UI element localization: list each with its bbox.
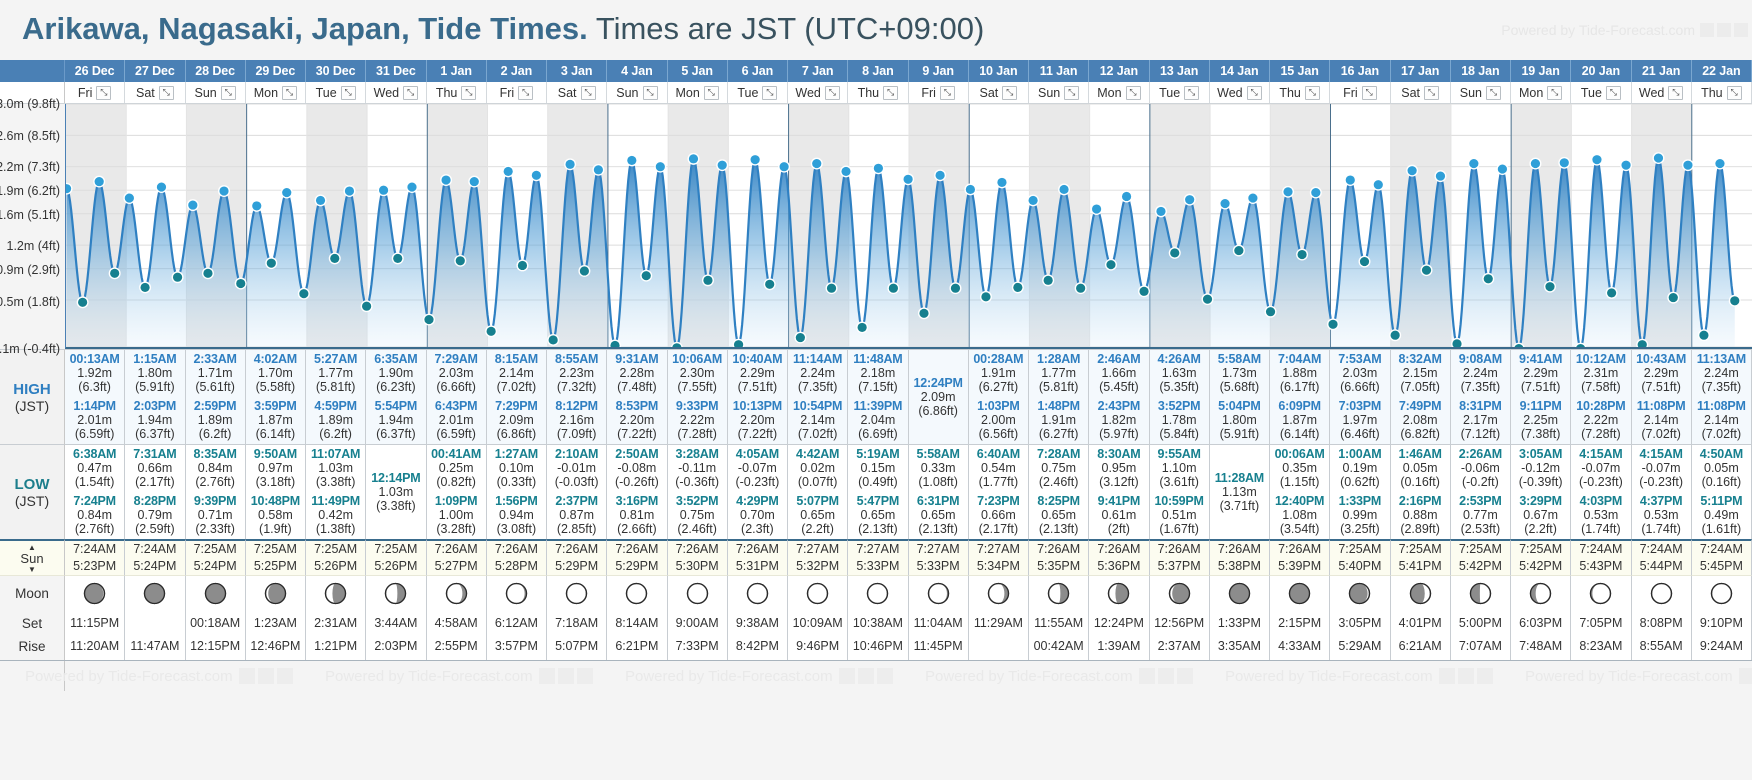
low-tide-point[interactable] bbox=[1545, 282, 1554, 291]
low-tide-point[interactable] bbox=[1484, 274, 1493, 283]
event-time: 5:04PM bbox=[1218, 399, 1261, 413]
low-tide-point[interactable] bbox=[1328, 320, 1337, 329]
date-cell-9[interactable]: 4 Jan bbox=[607, 60, 667, 82]
low-tide-point[interactable] bbox=[1607, 288, 1616, 297]
expand-icon[interactable]: ⤡ bbox=[883, 86, 898, 100]
expand-icon[interactable]: ⤡ bbox=[403, 86, 418, 100]
setrise-cell-0: 11:15PM11:20AM bbox=[65, 610, 125, 660]
setrise-cell-25: 7:05PM8:23AM bbox=[1571, 610, 1631, 660]
low-tide-event: 3:52PM0.75m(2.46ft) bbox=[668, 492, 727, 539]
cellbox: 10:40AM2.29m(7.51ft)10:13PM2.20m(7.22ft) bbox=[728, 350, 787, 444]
expand-icon[interactable]: ⤡ bbox=[1184, 86, 1199, 100]
high-tide-point[interactable] bbox=[997, 178, 1006, 187]
sun-cell-12: 7:27AM5:32PM bbox=[788, 539, 848, 575]
event-time: 5:54PM bbox=[375, 399, 418, 413]
low-tide-point[interactable] bbox=[889, 284, 898, 293]
high-tide-event: 4:02AM1.70m(5.58ft) bbox=[246, 350, 305, 397]
event-meters: 1.97m bbox=[1343, 413, 1378, 427]
low-tide-point[interactable] bbox=[1170, 248, 1179, 257]
high-tide-point[interactable] bbox=[1311, 188, 1320, 197]
event-time: 8:31PM bbox=[1459, 399, 1502, 413]
expand-icon[interactable]: ⤡ bbox=[341, 86, 356, 100]
watermark-strip: Powered by Tide-Forecast.comPowered by T… bbox=[65, 661, 1752, 691]
low-tide-event: 4:50AM0.05m(0.16ft) bbox=[1692, 445, 1751, 492]
high-tide-point[interactable] bbox=[219, 186, 228, 195]
date-cell-15[interactable]: 10 Jan bbox=[969, 60, 1029, 82]
low-tide-point[interactable] bbox=[236, 279, 245, 288]
low-tide-point[interactable] bbox=[1297, 250, 1306, 259]
low-tide-point[interactable] bbox=[858, 323, 867, 332]
low-tide-point[interactable] bbox=[487, 327, 496, 336]
event-time: 4:29PM bbox=[736, 494, 779, 508]
expand-icon[interactable]: ⤡ bbox=[282, 86, 297, 100]
low-tide-point[interactable] bbox=[765, 280, 774, 289]
moonrise-time: 7:07AM bbox=[1459, 635, 1502, 658]
high-tide-point[interactable] bbox=[1715, 159, 1724, 168]
high-tide-cell-8: 8:55AM2.23m(7.32ft)8:12PM2.16m(7.09ft) bbox=[547, 349, 607, 444]
dow-cell-18: Tue⤡ bbox=[1150, 82, 1210, 103]
event-feet: (6.2ft) bbox=[319, 427, 352, 441]
moon-cell-16 bbox=[1029, 575, 1089, 610]
event-meters: 2.29m bbox=[740, 366, 775, 380]
high-tide-cell-13: 11:48AM2.18m(7.15ft)11:39PM2.04m(6.69ft) bbox=[848, 349, 908, 444]
event-meters: 2.28m bbox=[620, 366, 655, 380]
dow-cell-16: Sun⤡ bbox=[1029, 82, 1089, 103]
low-tide-point[interactable] bbox=[1669, 293, 1678, 302]
date-cell-11[interactable]: 6 Jan bbox=[728, 60, 788, 82]
dow-label: Wed bbox=[795, 86, 820, 100]
event-meters: 0.42m bbox=[318, 508, 353, 522]
expand-icon[interactable]: ⤡ bbox=[1362, 86, 1377, 100]
high-tide-point[interactable] bbox=[125, 194, 134, 203]
low-tide-cell-17: 8:30AM0.95m(3.12ft)9:41PM0.61m(2ft) bbox=[1089, 444, 1149, 539]
cellbox: 3:05AM-0.12m(-0.39ft)3:29PM0.67m(2.2ft) bbox=[1511, 445, 1570, 539]
low-tide-point[interactable] bbox=[110, 269, 119, 278]
footer-watermark-3: Powered by Tide-Forecast.com bbox=[925, 668, 1193, 685]
low-tide-point[interactable] bbox=[299, 289, 308, 298]
event-meters: 0.79m bbox=[138, 508, 173, 522]
event-feet: (2.89ft) bbox=[1400, 522, 1440, 536]
high-tide-point[interactable] bbox=[407, 183, 416, 192]
high-tide-point[interactable] bbox=[1156, 207, 1165, 216]
low-tide-point[interactable] bbox=[267, 259, 276, 268]
expand-icon[interactable]: ⤡ bbox=[581, 86, 596, 100]
sun-cell-3: 7:25AM5:25PM bbox=[246, 539, 306, 575]
event-feet: (5.58ft) bbox=[256, 380, 296, 394]
date-cell-19[interactable]: 14 Jan bbox=[1210, 60, 1270, 82]
date-cell-5[interactable]: 31 Dec bbox=[366, 60, 426, 82]
location-title: Arikawa, Nagasaki, Japan, Tide Times. bbox=[22, 11, 588, 46]
event-meters: 0.99m bbox=[1343, 508, 1378, 522]
date-cell-1[interactable]: 27 Dec bbox=[125, 60, 185, 82]
event-feet: (7.32ft) bbox=[557, 380, 597, 394]
moonset-time: 6:03PM bbox=[1519, 612, 1562, 635]
high-tide-point[interactable] bbox=[157, 183, 166, 192]
low-tide-point[interactable] bbox=[1076, 284, 1085, 293]
high-tide-point[interactable] bbox=[1621, 161, 1630, 170]
event-time: 9:55AM bbox=[1157, 447, 1200, 461]
low-tide-point[interactable] bbox=[1699, 331, 1708, 340]
sunrise-time: 7:25AM bbox=[314, 541, 357, 558]
dow-cell-2: Sun⤡ bbox=[186, 82, 246, 103]
sunrise-time: 7:26AM bbox=[1097, 541, 1140, 558]
expand-icon[interactable]: ⤡ bbox=[825, 86, 840, 100]
expand-icon[interactable]: ⤡ bbox=[704, 86, 719, 100]
low-tide-event: 9:39PM0.71m(2.33ft) bbox=[186, 492, 245, 539]
expand-icon[interactable]: ⤡ bbox=[221, 86, 236, 100]
date-cell-27[interactable]: 22 Jan bbox=[1692, 60, 1752, 82]
low-tide-event: 8:28PM0.79m(2.59ft) bbox=[125, 492, 184, 539]
low-tide-point[interactable] bbox=[173, 273, 182, 282]
low-tide-point[interactable] bbox=[1360, 257, 1369, 266]
moonrise-time: 2:55PM bbox=[435, 635, 478, 658]
tide-grid: 26 Dec27 Dec28 Dec29 Dec30 Dec31 Dec1 Ja… bbox=[0, 60, 1752, 660]
high-tide-point[interactable] bbox=[841, 167, 850, 176]
event-time: 7:29PM bbox=[495, 399, 538, 413]
expand-icon[interactable]: ⤡ bbox=[461, 86, 476, 100]
event-feet: (0.82ft) bbox=[436, 475, 476, 489]
setrise-cell-22: 4:01PM6:21AM bbox=[1391, 610, 1451, 660]
expand-icon[interactable]: ⤡ bbox=[1606, 86, 1621, 100]
event-feet: (1.77ft) bbox=[979, 475, 1019, 489]
expand-icon[interactable]: ⤡ bbox=[762, 86, 777, 100]
event-time: 9:08AM bbox=[1459, 352, 1502, 366]
high-tide-point[interactable] bbox=[812, 159, 821, 168]
moon-phase-icon bbox=[324, 582, 347, 605]
high-tide-point[interactable] bbox=[966, 185, 975, 194]
high-tide-point[interactable] bbox=[1498, 165, 1507, 174]
high-tide-point[interactable] bbox=[1531, 159, 1540, 168]
high-tide-point[interactable] bbox=[441, 175, 450, 184]
event-time: 6:40AM bbox=[977, 447, 1020, 461]
low-tide-point[interactable] bbox=[1139, 287, 1148, 296]
high-tide-point[interactable] bbox=[1683, 161, 1692, 170]
high-tide-point[interactable] bbox=[1059, 185, 1068, 194]
event-time: 3:52PM bbox=[676, 494, 719, 508]
high-tide-point[interactable] bbox=[345, 186, 354, 195]
sunset-arrow-icon: ▼ bbox=[28, 566, 36, 573]
event-meters: 1.77m bbox=[318, 366, 353, 380]
event-time: 3:52PM bbox=[1158, 399, 1201, 413]
moon-phase-icon bbox=[204, 582, 227, 605]
event-time: 7:23PM bbox=[977, 494, 1020, 508]
cellbox: 8:30AM0.95m(3.12ft)9:41PM0.61m(2ft) bbox=[1089, 445, 1148, 539]
sunrise-time: 7:24AM bbox=[73, 541, 116, 558]
high-tide-point[interactable] bbox=[1248, 194, 1257, 203]
high-tide-point[interactable] bbox=[470, 177, 479, 186]
event-feet: (7.51ft) bbox=[1521, 380, 1561, 394]
sunset-time: 5:36PM bbox=[1097, 558, 1140, 575]
sunrise-arrow-icon: ▲ bbox=[28, 544, 36, 551]
moonset-time: 8:14AM bbox=[615, 612, 658, 635]
dow-columns: Fri⤡Sat⤡Sun⤡Mon⤡Tue⤡Wed⤡Thu⤡Fri⤡Sat⤡Sun⤡… bbox=[65, 82, 1752, 103]
cellbox: 12:14PM1.03m(3.38ft) bbox=[366, 445, 425, 539]
moonrise-time: 6:21PM bbox=[615, 635, 658, 658]
event-meters: 1.88m bbox=[1282, 366, 1317, 380]
high-tide-point[interactable] bbox=[95, 177, 104, 186]
event-feet: (6.66ft) bbox=[1340, 380, 1380, 394]
high-tide-event: 1:03PM2.00m(6.56ft) bbox=[969, 397, 1028, 444]
high-tide-point[interactable] bbox=[282, 188, 291, 197]
low-tide-point[interactable] bbox=[580, 266, 589, 275]
cellbox: 4:26AM1.63m(5.35ft)3:52PM1.78m(5.84ft) bbox=[1150, 350, 1209, 444]
low-tide-point[interactable] bbox=[703, 276, 712, 285]
expand-icon[interactable]: ⤡ bbox=[518, 86, 533, 100]
moon-cell-1 bbox=[125, 575, 185, 610]
high-tide-point[interactable] bbox=[504, 167, 513, 176]
low-tide-point[interactable] bbox=[518, 261, 527, 270]
date-cell-24[interactable]: 19 Jan bbox=[1511, 60, 1571, 82]
event-meters: 0.02m bbox=[800, 461, 835, 475]
low-tide-point[interactable] bbox=[203, 269, 212, 278]
moon-cell-9 bbox=[607, 575, 667, 610]
dow-label: Fri bbox=[500, 86, 515, 100]
dow-label: Wed bbox=[374, 86, 399, 100]
high-tide-point[interactable] bbox=[1185, 195, 1194, 204]
high-tide-point[interactable] bbox=[1220, 199, 1229, 208]
moonrise-time: 10:46PM bbox=[853, 635, 903, 658]
high-tide-event: 00:28AM1.91m(6.27ft) bbox=[969, 350, 1028, 397]
high-tide-cell-22: 8:32AM2.15m(7.05ft)7:49PM2.08m(6.82ft) bbox=[1391, 349, 1451, 444]
event-feet: (6.23ft) bbox=[376, 380, 416, 394]
low-tide-point[interactable] bbox=[827, 284, 836, 293]
moonset-time: 11:15PM bbox=[70, 612, 119, 635]
badge-icon bbox=[1158, 668, 1174, 684]
low-tide-event: 4:37PM0.53m(1.74ft) bbox=[1632, 492, 1691, 539]
moon-setrise-row: Set Rise 11:15PM11:20AM11:47AM00:18AM12:… bbox=[0, 610, 1752, 660]
high-tide-event: 3:59PM1.87m(6.14ft) bbox=[246, 397, 305, 444]
low-tide-point[interactable] bbox=[140, 283, 149, 292]
low-tide-event: 4:29PM0.70m(2.3ft) bbox=[728, 492, 787, 539]
date-cell-16[interactable]: 11 Jan bbox=[1029, 60, 1089, 82]
low-tide-event: 5:07PM0.65m(2.2ft) bbox=[788, 492, 847, 539]
low-tide-point[interactable] bbox=[1391, 331, 1400, 340]
date-cell-21[interactable]: 16 Jan bbox=[1330, 60, 1390, 82]
event-feet: (6.3ft) bbox=[78, 380, 111, 394]
event-meters: 0.75m bbox=[680, 508, 715, 522]
high-tide-point[interactable] bbox=[188, 201, 197, 210]
date-cell-17[interactable]: 12 Jan bbox=[1089, 60, 1149, 82]
low-tide-point[interactable] bbox=[1730, 296, 1739, 305]
expand-icon[interactable]: ⤡ bbox=[1424, 86, 1439, 100]
low-tide-point[interactable] bbox=[1044, 276, 1053, 285]
event-feet: (6.86ft) bbox=[497, 427, 537, 441]
event-feet: (2.76ft) bbox=[75, 522, 115, 536]
expand-icon[interactable]: ⤡ bbox=[1064, 86, 1079, 100]
low-tide-point[interactable] bbox=[1266, 307, 1275, 316]
expand-icon[interactable]: ⤡ bbox=[1002, 86, 1017, 100]
high-tide-point[interactable] bbox=[252, 201, 261, 210]
low-tide-point[interactable] bbox=[951, 284, 960, 293]
event-time: 00:41AM bbox=[431, 447, 481, 461]
low-tide-point[interactable] bbox=[981, 292, 990, 301]
event-feet: (7.38ft) bbox=[1521, 427, 1561, 441]
event-feet: (5.81ft) bbox=[316, 380, 356, 394]
low-tide-point[interactable] bbox=[393, 254, 402, 263]
date-cell-8[interactable]: 3 Jan bbox=[547, 60, 607, 82]
moon-cell-11 bbox=[728, 575, 788, 610]
expand-icon[interactable]: ⤡ bbox=[940, 86, 955, 100]
high-tide-point[interactable] bbox=[1283, 187, 1292, 196]
event-feet: (-0.23ft) bbox=[1579, 475, 1623, 489]
moonset-time: 12:24PM bbox=[1094, 612, 1144, 635]
low-tide-point[interactable] bbox=[1013, 283, 1022, 292]
event-feet: (-0.23ft) bbox=[735, 475, 779, 489]
event-meters: 0.35m bbox=[1282, 461, 1317, 475]
high-tide-point[interactable] bbox=[1122, 192, 1131, 201]
dow-label: Tue bbox=[1159, 86, 1180, 100]
low-tide-event: 10:59PM0.51m(1.67ft) bbox=[1150, 492, 1209, 539]
sunset-time: 5:32PM bbox=[796, 558, 839, 575]
event-time: 7:31AM bbox=[133, 447, 176, 461]
date-cell-10[interactable]: 5 Jan bbox=[668, 60, 728, 82]
low-tide-point[interactable] bbox=[1106, 260, 1115, 269]
low-tide-point[interactable] bbox=[362, 302, 371, 311]
event-time: 5:11PM bbox=[1700, 494, 1742, 508]
moonrise-time: 3:57PM bbox=[495, 635, 538, 658]
date-cell-14[interactable]: 9 Jan bbox=[909, 60, 969, 82]
high-tide-point[interactable] bbox=[565, 160, 574, 169]
cellbox: 12:24PM2.09m(6.86ft) bbox=[909, 350, 968, 444]
high-tide-event: 6:35AM1.90m(6.23ft) bbox=[366, 350, 425, 397]
sun-cell-1: 7:24AM5:24PM bbox=[125, 539, 185, 575]
high-tide-point[interactable] bbox=[1408, 166, 1417, 175]
cellbox: 2:50AM-0.08m(-0.26ft)3:16PM0.81m(2.66ft) bbox=[607, 445, 666, 539]
sunset-time: 5:33PM bbox=[856, 558, 899, 575]
high-tide-point[interactable] bbox=[1029, 196, 1038, 205]
high-tide-point[interactable] bbox=[594, 165, 603, 174]
high-tide-point[interactable] bbox=[532, 171, 541, 180]
high-tide-point[interactable] bbox=[1436, 172, 1445, 181]
expand-icon[interactable]: ⤡ bbox=[1247, 86, 1262, 100]
high-tide-point[interactable] bbox=[1346, 175, 1355, 184]
sun-label-text: Sun bbox=[20, 551, 43, 566]
moon-cell-10 bbox=[668, 575, 728, 610]
event-meters: 2.30m bbox=[680, 366, 715, 380]
expand-icon[interactable]: ⤡ bbox=[643, 86, 658, 100]
high-tide-point[interactable] bbox=[1560, 158, 1569, 167]
date-cell-2[interactable]: 28 Dec bbox=[186, 60, 246, 82]
low-tide-point[interactable] bbox=[330, 254, 339, 263]
date-cell-20[interactable]: 15 Jan bbox=[1270, 60, 1330, 82]
moon-cell-6 bbox=[427, 575, 487, 610]
high-tide-point[interactable] bbox=[718, 161, 727, 170]
high-tide-point[interactable] bbox=[1374, 180, 1383, 189]
expand-icon[interactable]: ⤡ bbox=[1547, 86, 1562, 100]
expand-icon[interactable]: ⤡ bbox=[96, 86, 111, 100]
low-tide-cell-0: 6:38AM0.47m(1.54ft)7:24PM0.84m(2.76ft) bbox=[65, 444, 125, 539]
high-tide-point[interactable] bbox=[1469, 159, 1478, 168]
date-cell-18[interactable]: 13 Jan bbox=[1150, 60, 1210, 82]
event-feet: (2.76ft) bbox=[195, 475, 235, 489]
low-tide-event: 2:10AM-0.01m(-0.03ft) bbox=[547, 445, 606, 492]
sunrise-time: 7:26AM bbox=[1158, 541, 1201, 558]
date-cell-22[interactable]: 17 Jan bbox=[1391, 60, 1451, 82]
high-tide-event: 10:06AM2.30m(7.55ft) bbox=[668, 350, 727, 397]
expand-icon[interactable]: ⤡ bbox=[1727, 86, 1742, 100]
expand-icon[interactable]: ⤡ bbox=[1126, 86, 1141, 100]
low-tide-cell-1: 7:31AM0.66m(2.17ft)8:28PM0.79m(2.59ft) bbox=[125, 444, 185, 539]
date-cell-3[interactable]: 29 Dec bbox=[246, 60, 306, 82]
cellbox: 11:07AM1.03m(3.38ft)11:49PM0.42m(1.38ft) bbox=[306, 445, 365, 539]
date-cell-25[interactable]: 20 Jan bbox=[1571, 60, 1631, 82]
low-tide-point[interactable] bbox=[1234, 246, 1243, 255]
high-tide-point[interactable] bbox=[874, 164, 883, 173]
sunset-time: 5:43PM bbox=[1579, 558, 1622, 575]
moonrise-time: 7:48AM bbox=[1519, 635, 1562, 658]
moon-cell-13 bbox=[848, 575, 908, 610]
moon-cell-8 bbox=[547, 575, 607, 610]
high-tide-point[interactable] bbox=[656, 162, 665, 171]
setrise-cell-7: 6:12AM3:57PM bbox=[487, 610, 547, 660]
low-tide-point[interactable] bbox=[549, 335, 558, 344]
high-tide-point[interactable] bbox=[379, 186, 388, 195]
high-tide-point[interactable] bbox=[689, 154, 698, 163]
expand-icon[interactable]: ⤡ bbox=[1305, 86, 1320, 100]
moon-cell-0 bbox=[65, 575, 125, 610]
high-tide-point[interactable] bbox=[1654, 154, 1663, 163]
cellbox: 7:31AM0.66m(2.17ft)8:28PM0.79m(2.59ft) bbox=[125, 445, 184, 539]
cellbox: 1:28AM1.77m(5.81ft)1:48PM1.91m(6.27ft) bbox=[1029, 350, 1088, 444]
event-feet: (6.37ft) bbox=[135, 427, 175, 441]
event-feet: (6.14ft) bbox=[1280, 427, 1320, 441]
cellbox: 10:06AM2.30m(7.55ft)9:33PM2.22m(7.28ft) bbox=[668, 350, 727, 444]
low-tide-point[interactable] bbox=[424, 315, 433, 324]
sunrise-time: 7:26AM bbox=[615, 541, 658, 558]
low-tide-cell-2: 8:35AM0.84m(2.76ft)9:39PM0.71m(2.33ft) bbox=[186, 444, 246, 539]
date-cell-7[interactable]: 2 Jan bbox=[487, 60, 547, 82]
date-cell-4[interactable]: 30 Dec bbox=[306, 60, 366, 82]
dow-cell-17: Mon⤡ bbox=[1089, 82, 1149, 103]
date-cell-13[interactable]: 8 Jan bbox=[848, 60, 908, 82]
expand-icon[interactable]: ⤡ bbox=[1668, 86, 1683, 100]
low-tide-point[interactable] bbox=[78, 298, 87, 307]
event-feet: (1.38ft) bbox=[316, 522, 356, 536]
date-cell-26[interactable]: 21 Jan bbox=[1632, 60, 1692, 82]
low-tide-point[interactable] bbox=[642, 271, 651, 280]
date-cell-12[interactable]: 7 Jan bbox=[788, 60, 848, 82]
low-tide-point[interactable] bbox=[456, 256, 465, 265]
low-tide-point[interactable] bbox=[919, 309, 928, 318]
event-meters: 2.23m bbox=[559, 366, 594, 380]
expand-icon[interactable]: ⤡ bbox=[159, 86, 174, 100]
expand-icon[interactable]: ⤡ bbox=[1486, 86, 1501, 100]
high-tide-point[interactable] bbox=[904, 175, 913, 184]
high-tide-point[interactable] bbox=[316, 196, 325, 205]
low-tide-cell-25: 4:15AM-0.07m(-0.23ft)4:03PM0.53m(1.74ft) bbox=[1571, 444, 1631, 539]
high-tide-point[interactable] bbox=[1092, 204, 1101, 213]
date-cell-6[interactable]: 1 Jan bbox=[427, 60, 487, 82]
high-tide-event: 5:54PM1.94m(6.37ft) bbox=[366, 397, 425, 444]
high-tide-cell-6: 7:29AM2.03m(6.66ft)6:43PM2.01m(6.59ft) bbox=[427, 349, 487, 444]
low-tide-point[interactable] bbox=[1422, 266, 1431, 275]
high-tide-point[interactable] bbox=[1592, 155, 1601, 164]
low-tide-point[interactable] bbox=[1203, 295, 1212, 304]
high-tide-point[interactable] bbox=[627, 156, 636, 165]
event-time: 4:15AM bbox=[1639, 447, 1682, 461]
low-tide-event: 3:29PM0.67m(2.2ft) bbox=[1511, 492, 1570, 539]
low-tide-point[interactable] bbox=[796, 333, 805, 342]
high-tide-point[interactable] bbox=[780, 162, 789, 171]
y-tick-7: 0.5m (1.8ft) bbox=[0, 295, 60, 309]
date-cell-23[interactable]: 18 Jan bbox=[1451, 60, 1511, 82]
sun-cell-22: 7:25AM5:41PM bbox=[1391, 539, 1451, 575]
high-tide-point[interactable] bbox=[936, 171, 945, 180]
low-tide-cell-18: 9:55AM1.10m(3.61ft)10:59PM0.51m(1.67ft) bbox=[1150, 444, 1210, 539]
event-time: 1:56PM bbox=[495, 494, 538, 508]
high-tide-point[interactable] bbox=[751, 155, 760, 164]
date-cell-0[interactable]: 26 Dec bbox=[65, 60, 125, 82]
